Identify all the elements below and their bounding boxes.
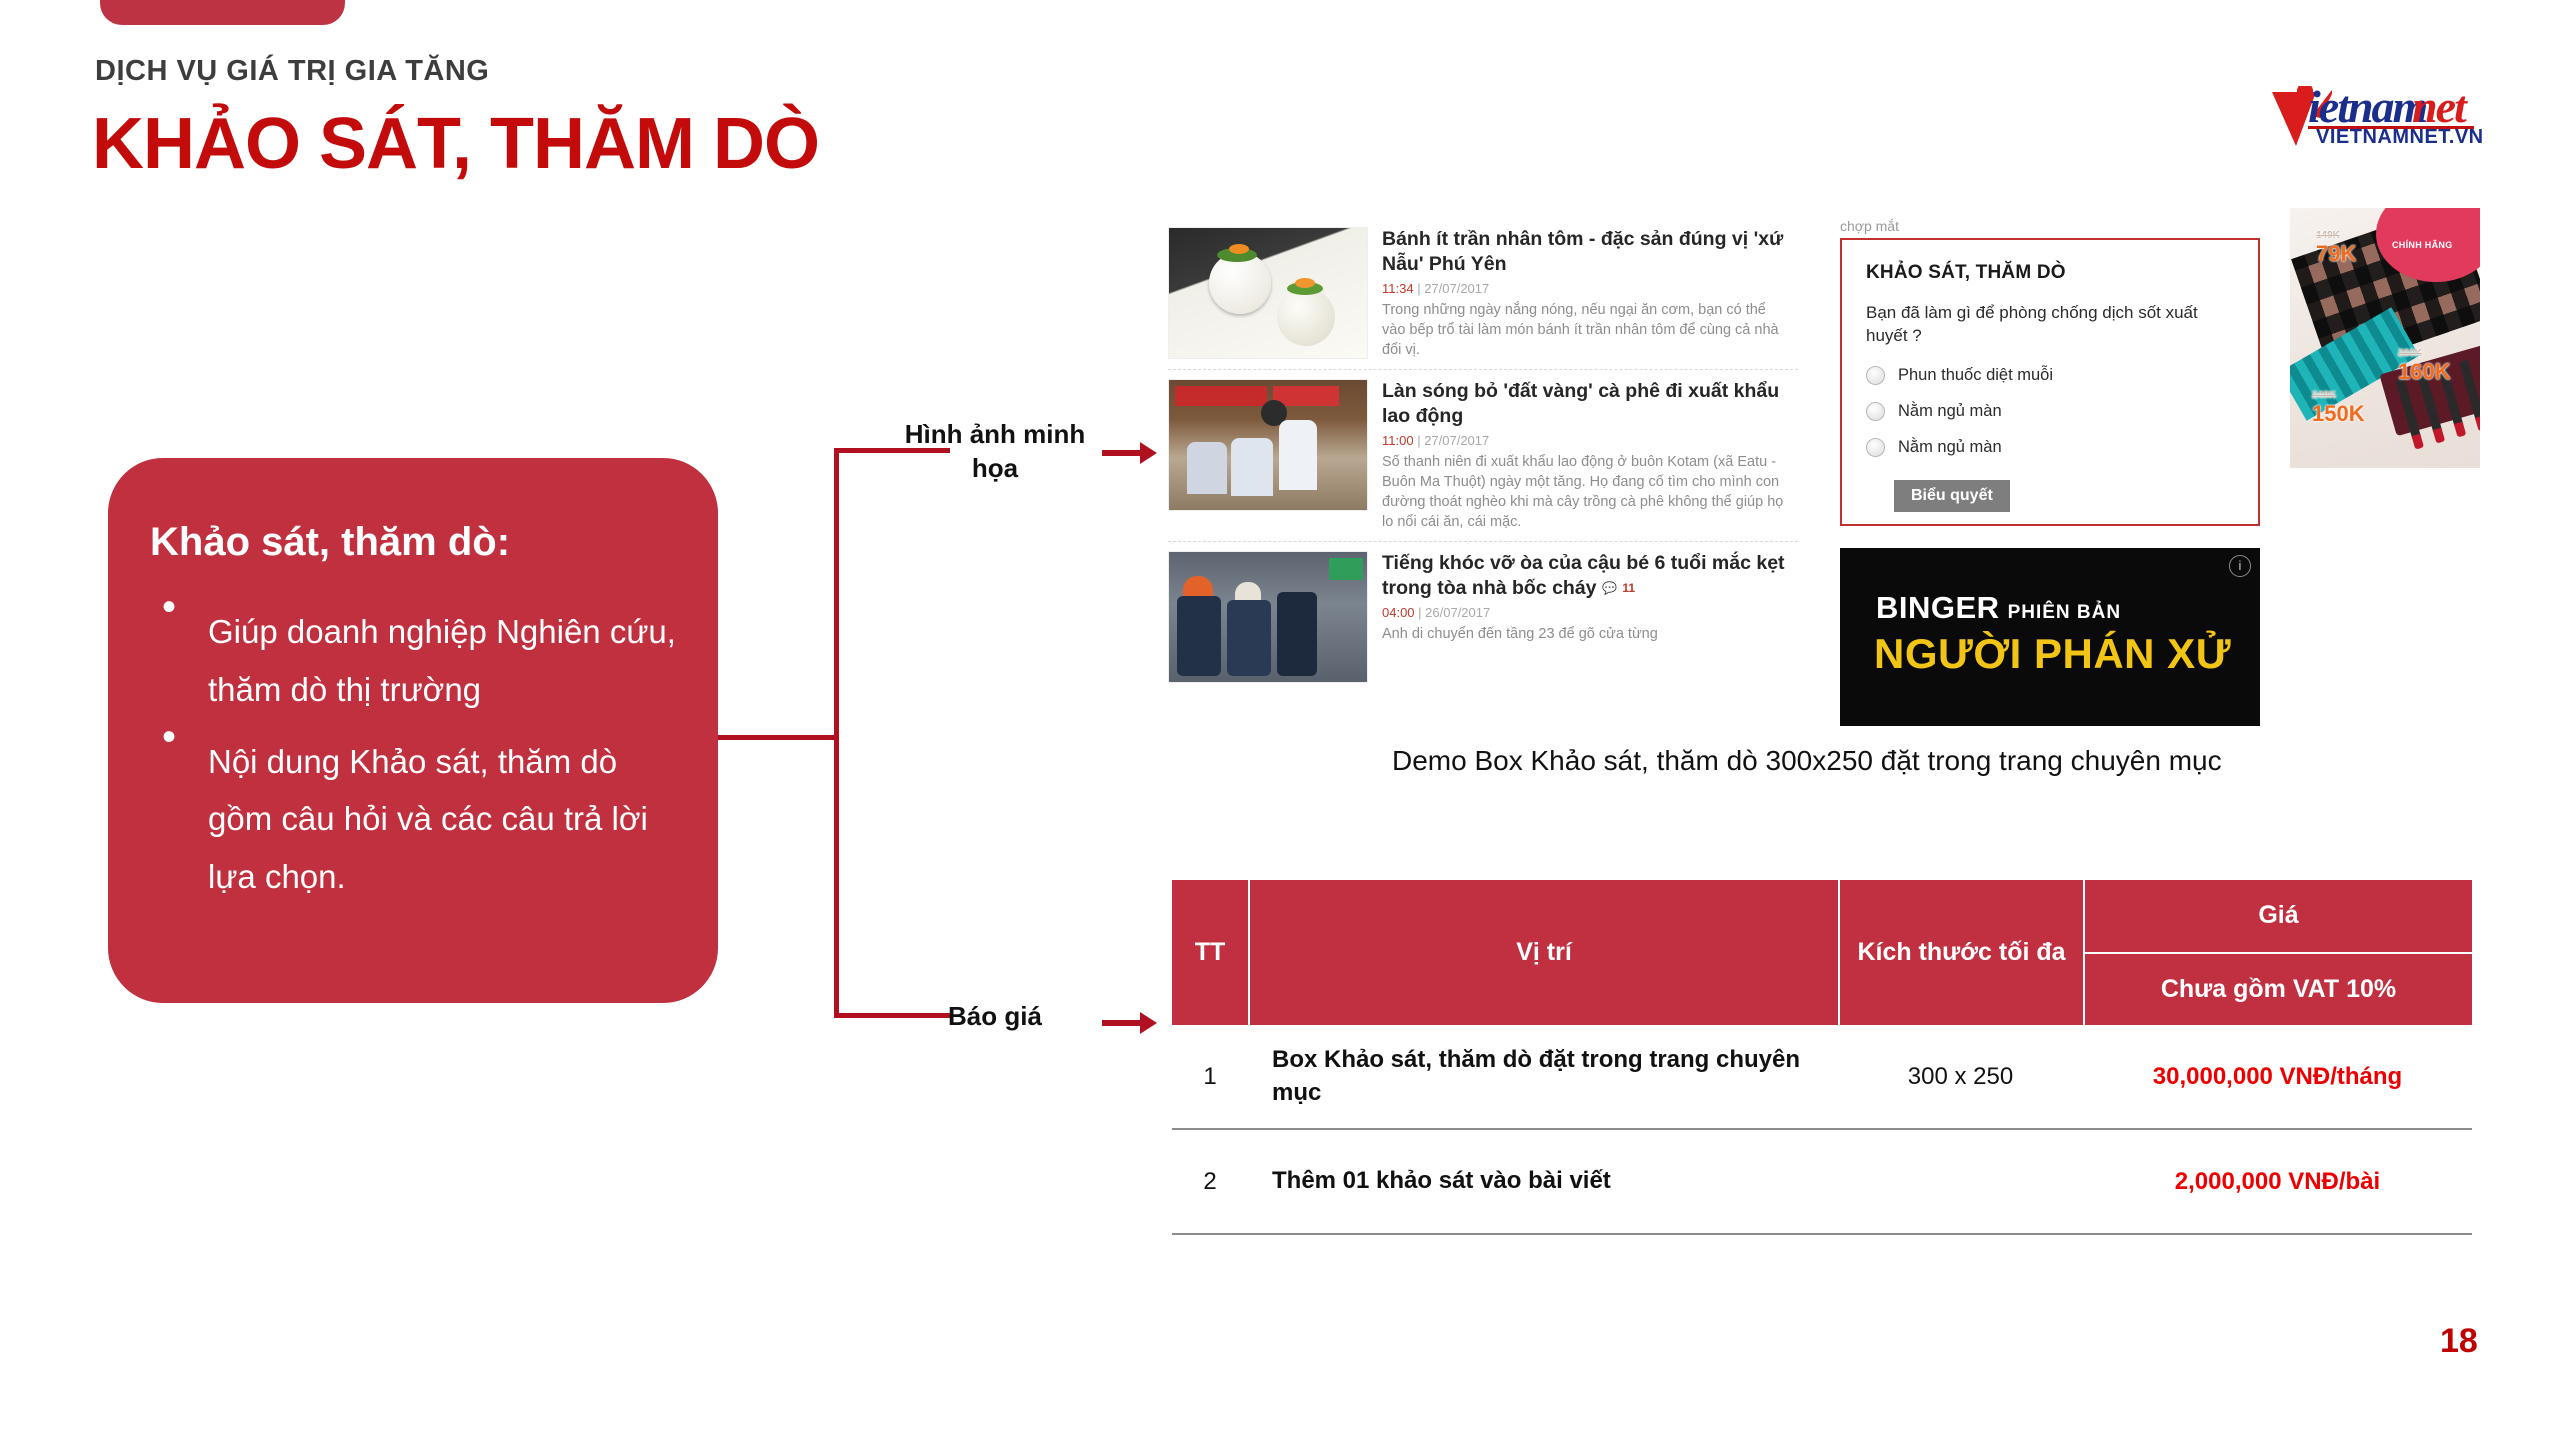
page-number: 18: [2440, 1322, 2478, 1361]
survey-widget-wrap: chợp mắt KHẢO SÁT, THĂM DÒ Bạn đã làm gì…: [1840, 218, 2260, 526]
pricing-table: TT Vị trí Kích thước tối đa Giá Chưa gồm…: [1172, 880, 2472, 1235]
comment-count-icon: 💬: [1602, 581, 1617, 596]
radio-button-icon[interactable]: [1866, 366, 1885, 385]
ad-binger-line2: NGƯỜI PHÁN XỬ: [1874, 630, 2231, 678]
connector-spine: [834, 448, 839, 1018]
survey-question: Bạn đã làm gì để phòng chống dịch sốt xu…: [1866, 302, 2234, 348]
article-description: Trong những ngày nắng nóng, nếu ngại ăn …: [1382, 300, 1792, 360]
price-new: 150K: [2312, 401, 2365, 426]
top-red-tab: [100, 0, 345, 25]
article-date: 27/07/2017: [1424, 281, 1489, 296]
table-row: 1 Box Khảo sát, thăm dò đặt trong trang …: [1172, 1025, 2472, 1130]
article-thumbnail: [1168, 227, 1368, 359]
survey-box: KHẢO SÁT, THĂM DÒ Bạn đã làm gì để phòng…: [1840, 238, 2260, 526]
cell-position: Thêm 01 khảo sát vào bài viết: [1248, 1149, 1838, 1213]
list-item[interactable]: Tiếng khóc vỡ òa của cậu bé 6 tuổi mắc k…: [1168, 541, 1798, 692]
article-title-text: Tiếng khóc vỡ òa của cậu bé 6 tuổi mắc k…: [1382, 552, 1785, 599]
slide-eyebrow: DỊCH VỤ GIÁ TRỊ GIA TĂNG: [95, 55, 489, 88]
article-meta: 11:00 | 27/07/2017: [1382, 433, 1792, 448]
badge-text: CHÍNH HÃNG: [2392, 240, 2453, 250]
article-date: 27/07/2017: [1424, 433, 1489, 448]
survey-option[interactable]: Nằm ngủ màn: [1866, 438, 2234, 457]
column-header-price: Giá Chưa gồm VAT 10%: [2083, 880, 2472, 1025]
price-tag: 149K 79K: [2316, 230, 2356, 267]
article-thumbnail: [1168, 551, 1368, 683]
partial-text-above-survey: chợp mắt: [1840, 218, 2260, 234]
radio-button-icon[interactable]: [1866, 438, 1885, 457]
column-header-price-main: Giá: [2085, 880, 2472, 952]
column-header-position: Vị trí: [1248, 880, 1838, 1025]
cell-size: [1838, 1166, 2083, 1198]
card-bullet-list: Giúp doanh nghiệp Nghiên cứu, thăm dò th…: [150, 603, 676, 906]
price-new: 160K: [2398, 359, 2451, 384]
list-item: Nội dung Khảo sát, thăm dò gồm câu hỏi v…: [150, 733, 676, 906]
article-title[interactable]: Tiếng khóc vỡ òa của cậu bé 6 tuổi mắc k…: [1382, 551, 1792, 600]
price-tag: 260K 160K: [2398, 348, 2451, 385]
survey-option-label: Nằm ngủ màn: [1898, 438, 2002, 457]
survey-option-label: Nằm ngủ màn: [1898, 402, 2002, 421]
price-old: 149K: [2316, 230, 2356, 241]
ad-banner-binger[interactable]: BINGERPHIÊN BẢN NGƯỜI PHÁN XỬ i: [1840, 548, 2260, 726]
table-header-row: TT Vị trí Kích thước tối đa Giá Chưa gồm…: [1172, 880, 2472, 1025]
price-new: 79K: [2316, 241, 2356, 266]
survey-option[interactable]: Phun thuốc diệt muỗi: [1866, 366, 2234, 385]
comment-count: 11: [1622, 581, 1635, 596]
column-header-price-sub: Chưa gồm VAT 10%: [2085, 952, 2472, 1025]
price-tag: 240K 150K: [2312, 390, 2365, 427]
cell-price: 2,000,000 VNĐ/bài: [2083, 1152, 2472, 1212]
price-old: 260K: [2398, 348, 2451, 359]
ad-binger-brand: BINGER: [1876, 590, 2000, 625]
cell-price: 30,000,000 VNĐ/tháng: [2083, 1047, 2472, 1107]
survey-title: KHẢO SÁT, THĂM DÒ: [1866, 262, 2234, 284]
ad-binger-subtitle: PHIÊN BẢN: [2008, 602, 2122, 623]
article-date: 26/07/2017: [1425, 605, 1490, 620]
article-meta: 04:00 | 26/07/2017: [1382, 605, 1792, 620]
article-title[interactable]: Bánh ít trần nhân tôm - đặc sản đúng vị …: [1382, 227, 1792, 276]
article-time: 04:00: [1382, 605, 1415, 620]
survey-option-label: Phun thuốc diệt muỗi: [1898, 366, 2053, 385]
page-title: KHẢO SÁT, THĂM DÒ: [92, 108, 819, 180]
price-old: 240K: [2312, 390, 2365, 401]
table-row: 2 Thêm 01 khảo sát vào bài viết 2,000,00…: [1172, 1130, 2472, 1235]
connector-label-illustration: Hình ảnh minh họa: [880, 418, 1110, 486]
demo-screenshot: Bánh ít trần nhân tôm - đặc sản đúng vị …: [1168, 218, 2480, 728]
survey-option[interactable]: Nằm ngủ màn: [1866, 402, 2234, 421]
news-list: Bánh ít trần nhân tôm - đặc sản đúng vị …: [1168, 218, 1798, 728]
article-meta: 11:34 | 27/07/2017: [1382, 281, 1792, 296]
article-description: Số thanh niên đi xuất khẩu lao động ở bu…: [1382, 452, 1792, 532]
cell-tt: 2: [1172, 1152, 1248, 1212]
info-icon[interactable]: i: [2229, 555, 2251, 577]
vietnamnet-logo: ietnam net VIETNAMNET.VN: [2272, 68, 2477, 146]
arrow-to-demo-icon: [1102, 442, 1157, 464]
arrow-to-table-icon: [1102, 1012, 1157, 1034]
ad-binger-line1: BINGERPHIÊN BẢN: [1876, 590, 2121, 626]
article-time: 11:00: [1382, 433, 1414, 448]
logo-domain: VIETNAMNET.VN: [2316, 126, 2484, 149]
column-header-size: Kích thước tối đa: [1838, 880, 2083, 1025]
article-description: Anh di chuyển đến tầng 23 để gõ cửa từng: [1382, 624, 1792, 644]
vote-button[interactable]: Biểu quyết: [1894, 480, 2010, 512]
list-item: Giúp doanh nghiệp Nghiên cứu, thăm dò th…: [150, 603, 676, 719]
list-item[interactable]: Làn sóng bỏ 'đất vàng' cà phê đi xuất kh…: [1168, 369, 1798, 541]
connector-card-stem: [718, 735, 838, 740]
list-item[interactable]: Bánh ít trần nhân tôm - đặc sản đúng vị …: [1168, 218, 1798, 369]
cell-position: Box Khảo sát, thăm dò đặt trong trang ch…: [1248, 1028, 1838, 1125]
connector-label-pricing: Báo giá: [880, 1000, 1110, 1034]
article-time: 11:34: [1382, 281, 1414, 296]
article-title[interactable]: Làn sóng bỏ 'đất vàng' cà phê đi xuất kh…: [1382, 379, 1792, 428]
slide-root: DỊCH VỤ GIÁ TRỊ GIA TĂNG KHẢO SÁT, THĂM …: [0, 0, 2560, 1440]
demo-caption: Demo Box Khảo sát, thăm dò 300x250 đặt t…: [1392, 745, 2222, 777]
radio-button-icon[interactable]: [1866, 402, 1885, 421]
card-heading: Khảo sát, thăm dò:: [150, 520, 676, 565]
cell-size: 300 x 250: [1838, 1047, 2083, 1107]
description-card: Khảo sát, thăm dò: Giúp doanh nghiệp Ngh…: [108, 458, 718, 1003]
cell-tt: 1: [1172, 1047, 1248, 1107]
article-thumbnail: [1168, 379, 1368, 511]
ad-banner-cosmetics[interactable]: CHÍNH HÃNG 149K 79K 240K 150K 260K 160K: [2290, 208, 2480, 468]
column-header-tt: TT: [1172, 880, 1248, 1025]
